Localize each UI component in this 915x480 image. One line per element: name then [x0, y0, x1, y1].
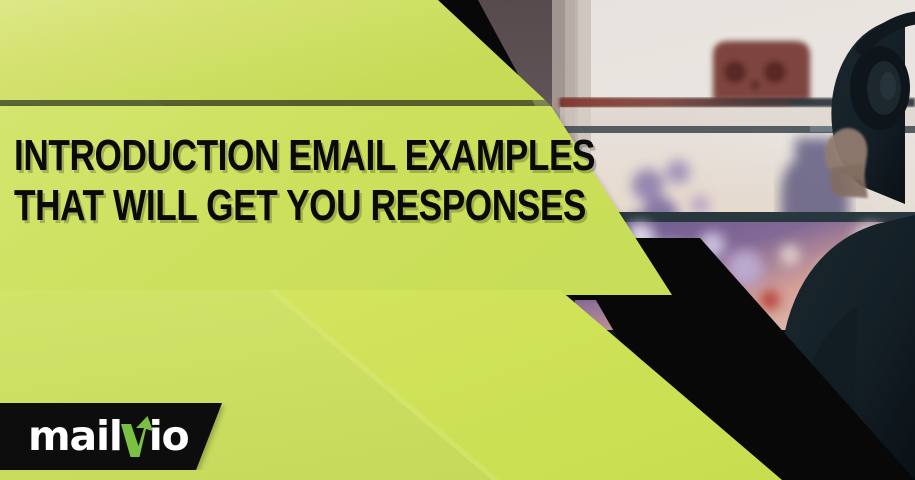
logo-text-before: mail: [28, 412, 122, 460]
upward-arrow-v-icon: [122, 413, 149, 459]
headline-line-1: INTRODUCTION EMAIL EXAMPLES: [14, 131, 430, 181]
mailvio-logo[interactable]: mail io: [28, 413, 189, 459]
page-title: INTRODUCTION EMAIL EXAMPLES THAT WILL GE…: [14, 131, 534, 231]
article-header-banner: INTRODUCTION EMAIL EXAMPLES THAT WILL GE…: [0, 0, 915, 480]
logo-text-after: io: [149, 412, 189, 460]
headline-line-2: THAT WILL GET YOU RESPONSES: [14, 181, 430, 231]
